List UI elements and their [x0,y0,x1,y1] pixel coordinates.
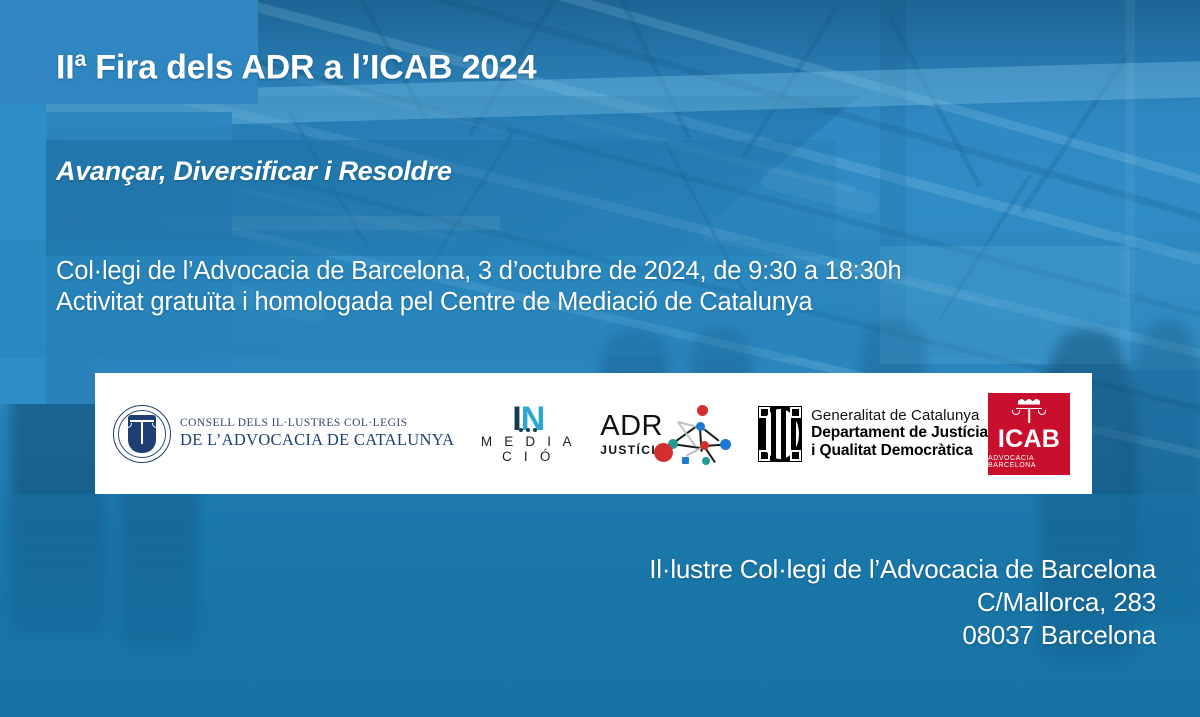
crown-and-scales-icon [1011,399,1047,425]
generalitat-line-1: Generalitat de Catalunya [811,407,988,424]
address-line-1: Il·lustre Col·legi de l’Advocacia de Bar… [649,553,1156,586]
address-line-3: 08037 Barcelona [649,619,1156,652]
address-line-2: C/Mallorca, 283 [649,586,1156,619]
network-nodes-icon [660,403,732,465]
page-title: IIa Fira dels ADR a l’ICAB 2024 [56,48,536,87]
icab-tagline: ADVOCACIA BARCELONA [988,455,1070,469]
event-details-line-2: Activitat gratuïta i homologada pel Cent… [56,287,902,318]
scales-of-justice-seal-icon [113,405,171,463]
title-rest: Fira dels ADR a l’ICAB 2024 [86,48,536,86]
adr-justicia-logo: ADR JUSTÍCIA [600,373,732,494]
event-details: Col·legi de l’Advocacia de Barcelona, 3 … [56,256,902,318]
consell-line-1: CONSELL DELS IL·LUSTRES COL·LEGIS [180,417,454,430]
venue-address: Il·lustre Col·legi de l’Advocacia de Bar… [649,553,1156,652]
generalitat-line-3: i Qualitat Democràtica [811,442,988,460]
in-mark-letter-i: I [512,400,520,438]
adr-acronym: ADR [600,412,666,441]
in-mediacio-logo: IN M E D I A C I Ó [480,373,576,494]
generalitat-line-2: Departament de Justícia [811,424,988,442]
in-mediacio-word: M E D I A C I Ó [480,434,576,464]
catalan-senyera-emblem-icon [758,406,802,462]
title-roman: II [56,48,75,86]
consell-advocacia-catalunya-logo: CONSELL DELS IL·LUSTRES COL·LEGIS DE L’A… [113,373,454,494]
in-mark-letter-n: N [521,400,545,438]
title-ordinal: a [75,48,87,71]
generalitat-departament-justicia-logo: Generalitat de Catalunya Departament de … [758,373,988,494]
consell-line-2: DE L’ADVOCACIA DE CATALUNYA [180,431,454,449]
icab-logo: ICAB ADVOCACIA BARCELONA [988,393,1070,475]
icab-acronym: ICAB [998,427,1060,452]
poster-subtitle: Avançar, Diversificar i Resoldre [56,156,452,187]
in-mark-dots-icon [480,428,576,432]
event-details-line-1: Col·legi de l’Advocacia de Barcelona, 3 … [56,256,902,287]
logo-bar: CONSELL DELS IL·LUSTRES COL·LEGIS DE L’A… [95,373,1092,494]
event-poster: IIa Fira dels ADR a l’ICAB 2024 Avançar,… [0,0,1200,717]
